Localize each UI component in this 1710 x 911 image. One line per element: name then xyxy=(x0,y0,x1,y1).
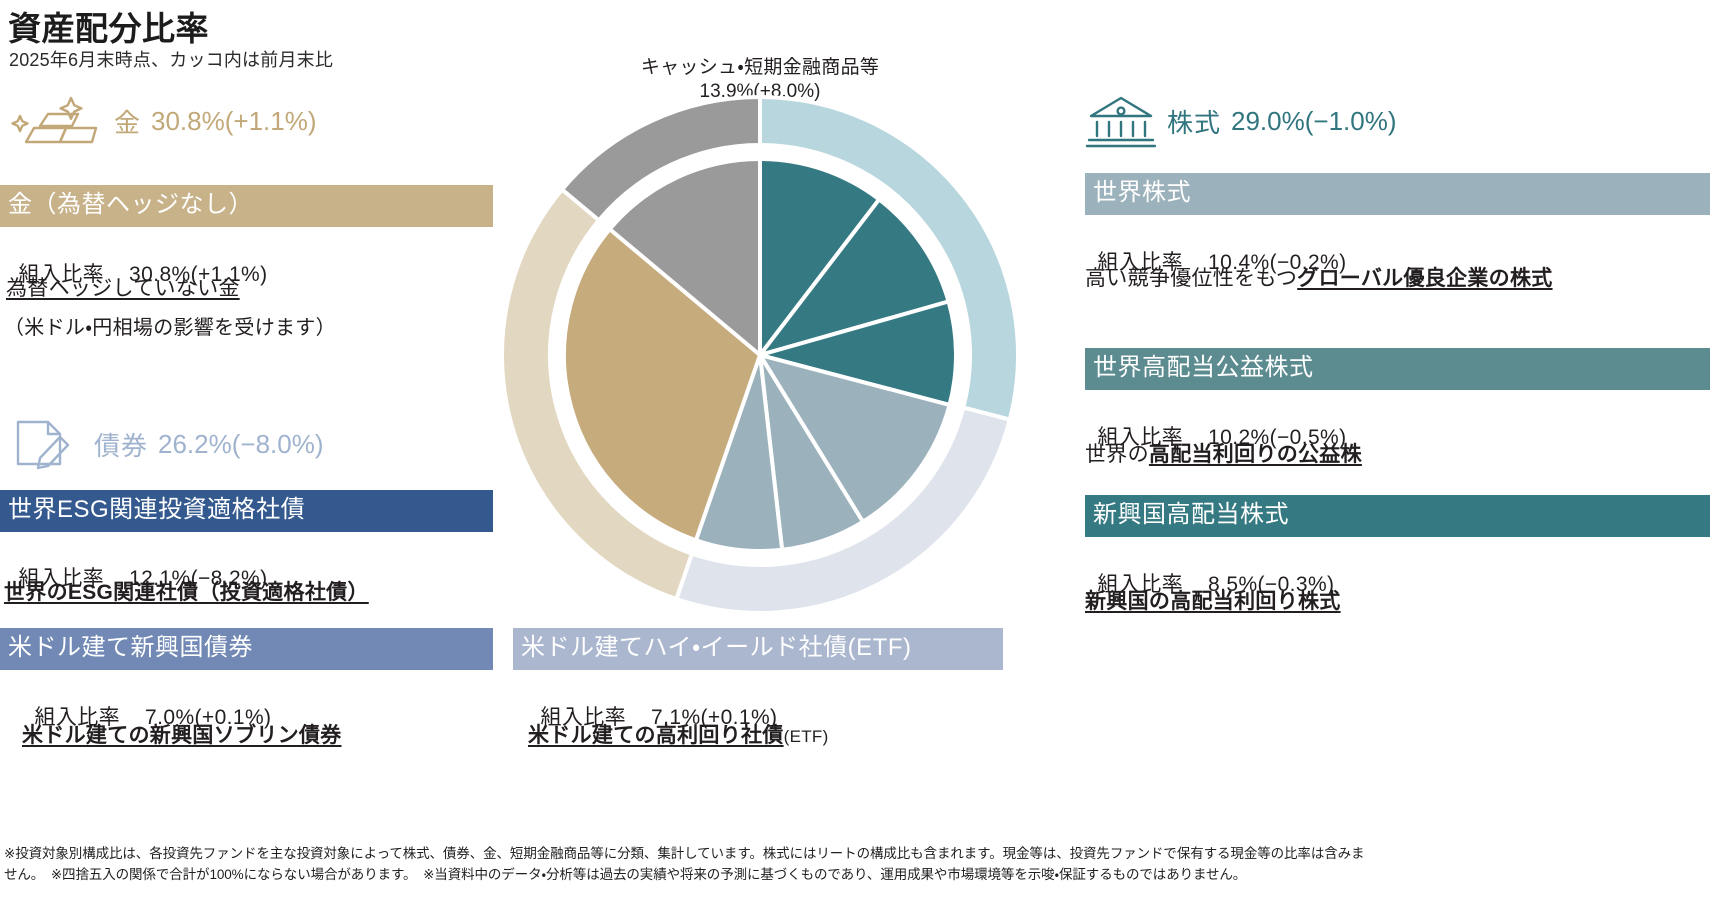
bond-category-percent: 26.2%(−8.0%) xyxy=(158,429,323,460)
page-subtitle: 2025年6月末時点、カッコ内は前月末比 xyxy=(9,46,333,72)
gold-category-header: 金 30.8%(+1.1%) xyxy=(8,92,317,150)
fund-band-high-yield-etf[interactable]: 米ドル建てハイ・イールド社債(ETF) xyxy=(513,628,1003,670)
world-utility-desc-plain: 世界の xyxy=(1085,443,1149,466)
high-yield-etf-desc-main: 米ドル建ての高利回り社債 xyxy=(528,724,784,747)
equity-category-percent: 29.0%(−1.0%) xyxy=(1231,106,1396,137)
gold-nohedge-note: （米ドル・円相場の影響を受けます） xyxy=(4,311,336,340)
gold-bars-icon xyxy=(8,92,104,150)
fund-band-gold-nohedge[interactable]: 金（為替ヘッジなし） xyxy=(0,185,493,227)
bank-building-icon xyxy=(1085,92,1157,150)
gold-category-label: 金 xyxy=(114,103,141,140)
world-equity-desc: 高い競争優位性をもつグローバル優良企業の株式 xyxy=(1085,261,1710,297)
world-equity-desc-plain: 高い競争優位性をもつ xyxy=(1085,267,1297,290)
inner-ring-funds: 世界株式 10.4%世界高配当公益株式 10.2%新興国高配当株式 8.5%世界… xyxy=(564,159,956,551)
bond-category-header: 債券 26.2%(−8.0%) xyxy=(10,416,324,472)
fund-band-em-high-dividend-equity[interactable]: 新興国高配当株式 xyxy=(1085,495,1710,537)
equity-category-label: 株式 xyxy=(1167,103,1221,140)
fund-band-esg-corporate[interactable]: 世界ESG関連投資適格社債 xyxy=(0,490,493,532)
donut-svg: 株式 29%債券 26.2%金 30.8%キャッシュ・短期金融商品等 13.9%… xyxy=(500,95,1020,615)
high-yield-etf-desc-suffix: (ETF) xyxy=(784,727,829,746)
world-utility-desc: 世界の高配当利回りの公益株 xyxy=(1085,438,1362,468)
fund-band-world-equity[interactable]: 世界株式 xyxy=(1085,173,1710,215)
page-title: 資産配分比率 xyxy=(8,2,209,50)
gold-nohedge-desc: 為替ヘッジしていない金 xyxy=(6,272,240,302)
em-equity-desc: 新興国の高配当利回り株式 xyxy=(1085,585,1341,615)
bond-category-label: 債券 xyxy=(94,426,148,463)
equity-category-header: 株式 29.0%(−1.0%) xyxy=(1085,92,1397,150)
fund-band-em-usd-bond[interactable]: 米ドル建て新興国債券 xyxy=(0,628,493,670)
footnote-line2: せん。 ※四捨五入の関係で合計が100%にならない場合があります。 ※当資料中の… xyxy=(4,864,1706,885)
esg-corporate-desc: 世界のESG関連社債（投資適格社債） xyxy=(4,576,369,606)
high-yield-etf-desc: 米ドル建ての高利回り社債(ETF) xyxy=(528,719,829,749)
footnote-line1: ※投資対象別構成比は、各投資先ファンドを主な投資対象によって株式、債券、金、短期… xyxy=(4,843,1706,864)
asset-allocation-donut-chart: 株式 29%債券 26.2%金 30.8%キャッシュ・短期金融商品等 13.9%… xyxy=(500,95,1020,615)
gold-category-percent: 30.8%(+1.1%) xyxy=(151,106,316,137)
fund-band-world-high-dividend-utility[interactable]: 世界高配当公益株式 xyxy=(1085,348,1710,390)
footnote: ※投資対象別構成比は、各投資先ファンドを主な投資対象によって株式、債券、金、短期… xyxy=(4,843,1706,885)
bond-document-icon xyxy=(10,416,84,472)
world-equity-desc-underline: グローバル優良企業の株式 xyxy=(1297,267,1552,290)
em-usd-bond-desc: 米ドル建ての新興国ソブリン債券 xyxy=(22,719,342,749)
world-utility-desc-underline: 高配当利回りの公益株 xyxy=(1149,443,1362,466)
chart-caption-line1: キャッシュ・短期金融商品等 xyxy=(500,52,1020,79)
